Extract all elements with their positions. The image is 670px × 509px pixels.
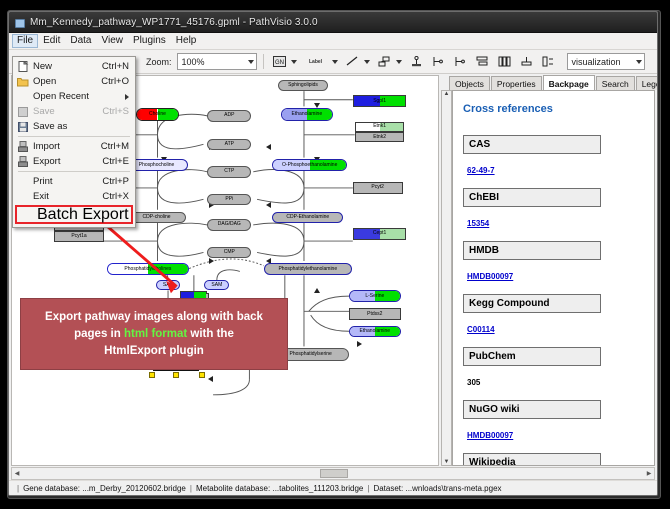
menu-bar: File Edit Data View Plugins Help: [9, 33, 657, 50]
annotation-callout: Export pathway images along with back pa…: [20, 298, 288, 370]
datanode-dropdown-icon[interactable]: [291, 60, 297, 64]
line-dropdown-icon[interactable]: [364, 60, 370, 64]
bring-to-front-tool-button[interactable]: [539, 52, 558, 71]
file-menu-item-accelerator: Ctrl+O: [101, 76, 135, 87]
save-as-disk-icon: [13, 122, 33, 132]
title-bar: Mm_Kennedy_pathway_WP1771_45176.gpml - P…: [9, 12, 657, 33]
chevron-down-icon: [636, 60, 642, 64]
tab-objects[interactable]: Objects: [449, 76, 490, 90]
open-folder-icon: [13, 77, 33, 87]
file-menu-item-print[interactable]: PrintCtrl+P: [13, 174, 135, 189]
xref-value-row: HMDB00097: [463, 425, 644, 453]
same-height-tool-button[interactable]: [517, 52, 536, 71]
batch-export-menu-item[interactable]: Batch Export: [15, 205, 133, 224]
save-disk-icon: [13, 107, 33, 117]
menu-edit[interactable]: Edit: [38, 34, 65, 48]
menu-separator: [18, 136, 130, 137]
side-panel-tabs: Objects Properties Backpage Search Legen…: [441, 75, 655, 90]
toolbar-divider: [263, 54, 264, 69]
status-bar: | Gene database: ...m_Derby_20120602.bri…: [9, 480, 657, 495]
file-menu-items: NewCtrl+NOpenCtrl+OOpen RecentSaveCtrl+S…: [13, 59, 135, 204]
gene-database-label: Gene database:: [23, 484, 80, 493]
cross-reference-list: CAS62-49-7ChEBI15354HMDBHMDB00097Kegg Co…: [463, 135, 644, 466]
xref-header-hmdb: HMDB: [463, 241, 601, 260]
label-tool-text: Label: [309, 59, 322, 65]
menu-separator: [18, 171, 130, 172]
import-icon: [13, 141, 33, 152]
submenu-arrow-icon: [125, 94, 129, 100]
chevron-down-icon: [248, 60, 254, 64]
callout-line-2-pre: pages in: [74, 328, 124, 340]
file-menu-item-export[interactable]: ExportCtrl+E: [13, 154, 135, 169]
scroll-down-icon[interactable]: ▼: [444, 459, 450, 465]
file-menu-item-label: Open Recent: [33, 91, 129, 102]
xref-value-chebi[interactable]: 15354: [467, 219, 489, 228]
dataset-label: Dataset:: [373, 484, 403, 493]
xref-value-row: 62-49-7: [463, 160, 644, 188]
align-top-tool-button[interactable]: [451, 52, 470, 71]
file-menu-item-label: Print: [33, 176, 102, 187]
callout-line-3: HtmlExport plugin: [104, 345, 204, 357]
file-menu-item-import[interactable]: ImportCtrl+M: [13, 139, 135, 154]
callout-line-2-post: with the: [187, 328, 234, 340]
xref-value-cas[interactable]: 62-49-7: [467, 166, 495, 175]
file-menu-dropdown[interactable]: NewCtrl+NOpenCtrl+OOpen RecentSaveCtrl+S…: [12, 56, 136, 228]
file-menu-item-open[interactable]: OpenCtrl+O: [13, 74, 135, 89]
xref-value-hmdb[interactable]: HMDB00097: [467, 272, 513, 281]
scroll-right-icon[interactable]: ▶: [644, 470, 654, 477]
pathvisio-window: Mm_Kennedy_pathway_WP1771_45176.gpml - P…: [8, 11, 658, 496]
file-menu-item-label: Import: [33, 141, 101, 152]
tab-backpage[interactable]: Backpage: [543, 75, 595, 90]
xref-header-wikipedia: Wikipedia: [463, 453, 601, 466]
file-menu-item-save-as[interactable]: Save as: [13, 119, 135, 134]
horizontal-scrollbar[interactable]: ◀ ▶: [11, 467, 655, 480]
side-panel: Objects Properties Backpage Search Legen…: [441, 75, 655, 466]
label-dropdown-icon[interactable]: [332, 60, 338, 64]
xref-header-nugo-wiki: NuGO wiki: [463, 400, 601, 419]
datanode-tool-button[interactable]: GN: [270, 52, 289, 71]
zoom-value: 100%: [182, 57, 205, 67]
xref-value-kegg-compound[interactable]: C00114: [467, 325, 495, 334]
svg-text:GN: GN: [275, 60, 284, 66]
menu-help[interactable]: Help: [171, 34, 202, 48]
file-menu-item-label: Save: [33, 106, 102, 117]
xref-value-row: C00114: [463, 319, 644, 347]
xref-header-cas: CAS: [463, 135, 601, 154]
zoom-combo[interactable]: 100%: [177, 53, 257, 70]
new-file-icon: [13, 61, 33, 72]
window-title: Mm_Kennedy_pathway_WP1771_45176.gpml - P…: [30, 17, 318, 28]
align-left-tool-button[interactable]: [429, 52, 448, 71]
file-menu-item-save: SaveCtrl+S: [13, 104, 135, 119]
batch-export-label: Batch Export: [37, 206, 131, 224]
visualization-combo[interactable]: visualization: [567, 53, 645, 70]
shape-tool-button[interactable]: [375, 52, 394, 71]
shape-dropdown-icon[interactable]: [396, 60, 402, 64]
xref-value-nugo-wiki[interactable]: HMDB00097: [467, 431, 513, 440]
tab-properties[interactable]: Properties: [491, 76, 542, 90]
file-menu-item-accelerator: Ctrl+M: [101, 141, 135, 152]
xref-value-pubchem: 305: [467, 378, 480, 387]
menu-view[interactable]: View: [96, 34, 128, 48]
visualization-value: visualization: [572, 57, 621, 67]
xref-value-row: 305: [463, 372, 644, 400]
status-divider: |: [367, 484, 369, 493]
pathvisio-app-icon: [14, 17, 25, 28]
dataset-value: ...wnloads\trans-meta.pgex: [405, 484, 501, 493]
tab-search[interactable]: Search: [596, 76, 635, 90]
xref-header-chebi: ChEBI: [463, 188, 601, 207]
cross-references-heading: Cross references: [463, 103, 644, 115]
scroll-left-icon[interactable]: ◀: [12, 470, 22, 477]
screenshot-root: Mm_Kennedy_pathway_WP1771_45176.gpml - P…: [0, 0, 670, 509]
backpage-content: Cross references CAS62-49-7ChEBI15354HMD…: [453, 91, 654, 466]
file-menu-item-accelerator: Ctrl+S: [102, 106, 135, 117]
menu-data[interactable]: Data: [65, 34, 96, 48]
xref-header-pubchem: PubChem: [463, 347, 601, 366]
file-menu-item-accelerator: Ctrl+N: [102, 61, 135, 72]
file-menu-item-label: Open: [33, 76, 101, 87]
tab-legend[interactable]: Legend: [636, 76, 658, 90]
file-menu-item-exit[interactable]: ExitCtrl+X: [13, 189, 135, 204]
file-menu-item-accelerator: Ctrl+X: [102, 191, 135, 202]
file-menu-item-accelerator: Ctrl+E: [102, 156, 135, 167]
file-menu-item-label: Exit: [33, 191, 102, 202]
gene-database-value: ...m_Derby_20120602.bridge: [82, 484, 186, 493]
callout-line-1: Export pathway images along with back: [45, 311, 263, 323]
callout-highlight: html format: [124, 328, 187, 340]
anchor-tool-button[interactable]: [407, 52, 426, 71]
same-width-tool-button[interactable]: [495, 52, 514, 71]
label-tool-button[interactable]: Label: [302, 52, 330, 71]
file-menu-item-label: Export: [33, 156, 102, 167]
export-icon: [13, 156, 33, 167]
menu-plugins[interactable]: Plugins: [128, 34, 171, 48]
scrollbar-thumb[interactable]: [320, 469, 348, 478]
metabolite-database-value: ...tabolites_111203.bridge: [272, 484, 363, 493]
xref-value-row: 15354: [463, 213, 644, 241]
file-menu-item-label: New: [33, 61, 102, 72]
file-menu-item-accelerator: Ctrl+P: [102, 176, 135, 187]
line-tool-button[interactable]: [343, 52, 362, 71]
distribute-tool-button[interactable]: [473, 52, 492, 71]
scroll-up-icon[interactable]: ▲: [444, 91, 450, 97]
file-menu-item-label: Save as: [33, 121, 129, 132]
file-menu-item-new[interactable]: NewCtrl+N: [13, 59, 135, 74]
file-menu-item-open-recent[interactable]: Open Recent: [13, 89, 135, 104]
backpage-panel: Cross references CAS62-49-7ChEBI15354HMD…: [452, 90, 655, 466]
menu-file[interactable]: File: [12, 34, 38, 48]
metabolite-database-label: Metabolite database:: [196, 484, 270, 493]
status-divider: |: [17, 484, 19, 493]
xref-header-kegg-compound: Kegg Compound: [463, 294, 601, 313]
status-divider: |: [190, 484, 192, 493]
xref-value-row: HMDB00097: [463, 266, 644, 294]
zoom-label: Zoom:: [146, 57, 172, 67]
side-panel-scrollbar[interactable]: ▲ ▼: [441, 90, 452, 466]
